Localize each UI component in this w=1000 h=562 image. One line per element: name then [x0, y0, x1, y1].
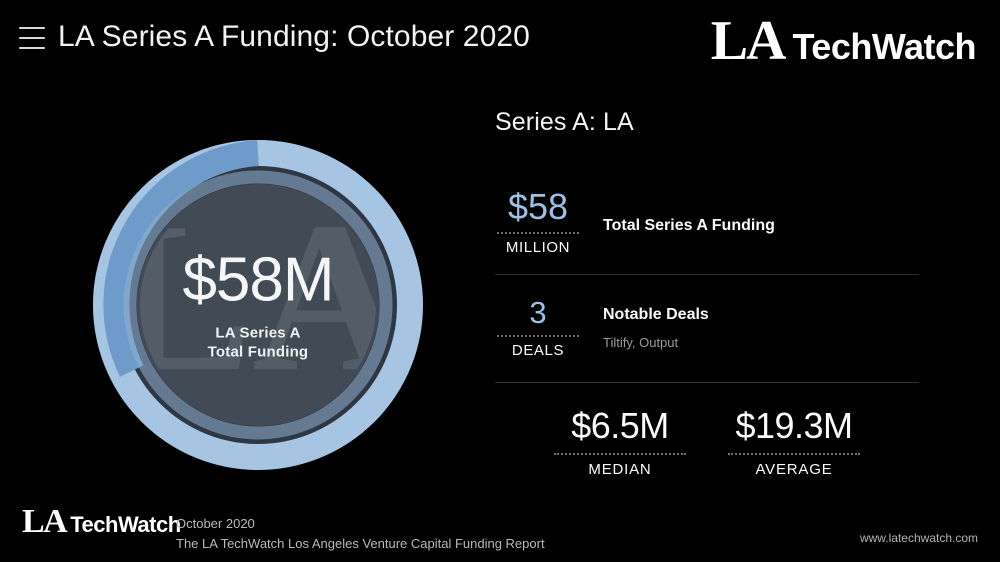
deals-number: 3 [495, 297, 581, 328]
brand-mark: LA [22, 508, 66, 536]
hamburger-icon[interactable] [19, 27, 45, 49]
hamburger-bar [19, 27, 45, 29]
deals-unit: DEALS [495, 342, 581, 359]
stats-panel: Series A: LA $58 MILLION Total Series A … [495, 108, 919, 478]
funding-body: Total Series A Funding [581, 189, 775, 235]
deals-label: Notable Deals [603, 306, 709, 324]
summary-median: $6.5M MEDIAN [546, 408, 694, 478]
median-value: $6.5M [546, 408, 694, 444]
panel-heading: Series A: LA [495, 108, 919, 137]
footer-bar: LA TechWatch October 2020 The LA TechWat… [0, 500, 1000, 562]
summary-row: $6.5M MEDIAN $19.3M AVERAGE [495, 408, 919, 478]
brand-name: TechWatch [792, 26, 976, 68]
footer-text: October 2020 The LA TechWatch Los Angele… [176, 516, 545, 551]
brand-logo-header: LA TechWatch [711, 18, 976, 68]
deals-body: Notable Deals Tiltify, Output [581, 297, 709, 350]
panel-divider-1 [495, 274, 919, 275]
funding-key: $58 MILLION [495, 189, 581, 256]
average-label: AVERAGE [720, 461, 868, 478]
footer-date: October 2020 [176, 516, 545, 531]
median-label: MEDIAN [546, 461, 694, 478]
panel-divider-2 [495, 382, 919, 383]
median-dotted-rule [554, 453, 686, 455]
hamburger-bar [19, 47, 45, 49]
brand-logo-footer: LA TechWatch [22, 508, 181, 538]
average-value: $19.3M [720, 408, 868, 444]
average-dotted-rule [728, 453, 860, 455]
brand-mark: LA [711, 18, 785, 64]
stat-row-deals: 3 DEALS Notable Deals Tiltify, Output [495, 297, 919, 359]
summary-average: $19.3M AVERAGE [720, 408, 868, 478]
brand-name: TechWatch [70, 512, 180, 538]
hamburger-bar [19, 37, 45, 39]
page-title: LA Series A Funding: October 2020 [58, 20, 530, 54]
donut-chart-svg: LA [92, 139, 424, 471]
funding-dotted-rule [497, 232, 579, 234]
stat-row-funding: $58 MILLION Total Series A Funding [495, 189, 919, 256]
footer-report-title: The LA TechWatch Los Angeles Venture Cap… [176, 536, 545, 551]
deals-key: 3 DEALS [495, 297, 581, 359]
deals-dotted-rule [497, 335, 579, 337]
funding-unit: MILLION [495, 239, 581, 256]
donut-chart: LA $58M LA Series A Total Funding [92, 139, 424, 471]
footer-url[interactable]: www.latechwatch.com [860, 531, 978, 545]
funding-label: Total Series A Funding [603, 217, 775, 235]
deals-note: Tiltify, Output [603, 335, 709, 350]
funding-number: $58 [495, 189, 581, 225]
header-bar: LA Series A Funding: October 2020 LA Tec… [0, 0, 1000, 82]
